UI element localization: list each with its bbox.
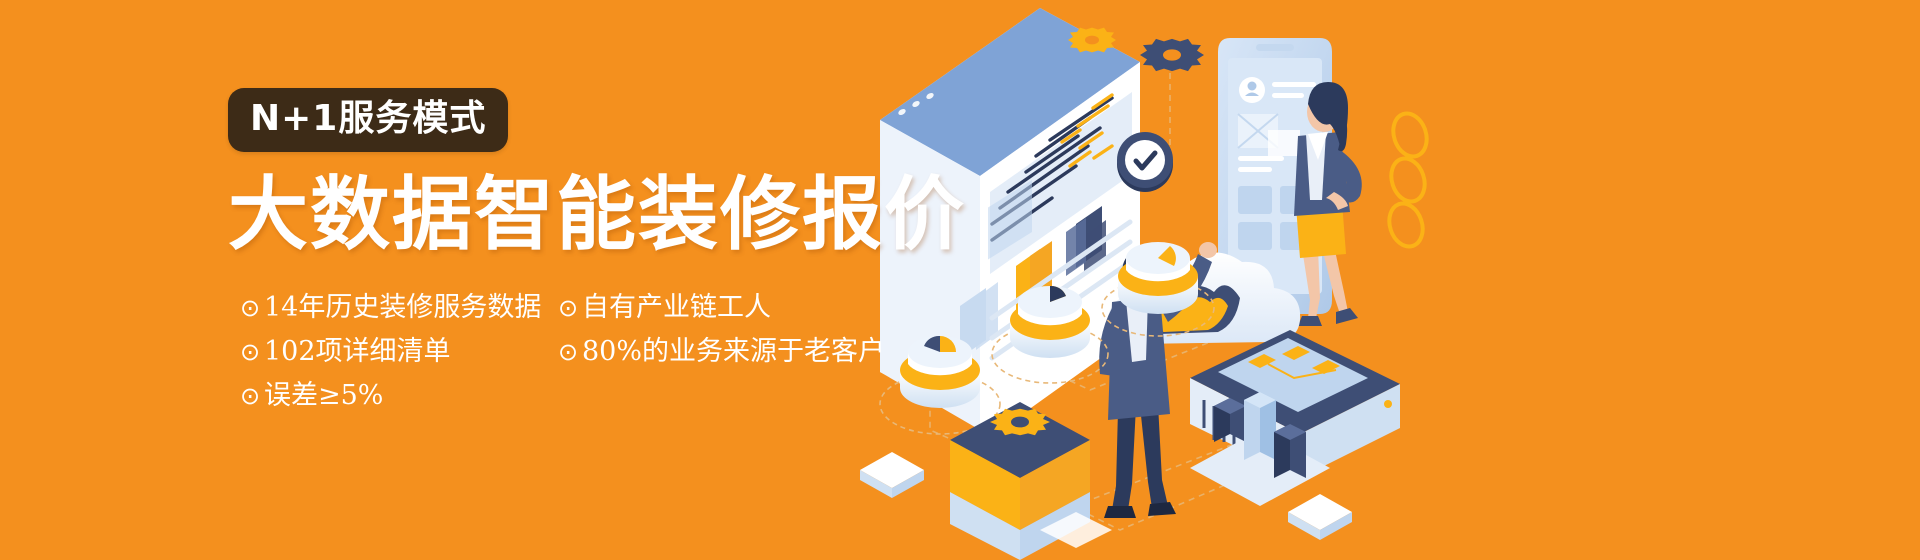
ring-links-icon [1384,109,1432,251]
list-item: ⊙ 102项详细清单 [240,337,558,367]
checkmark-badge-icon [1117,132,1173,192]
bullet-dot-icon: ⊙ [240,296,262,320]
list-item: ⊙ 自有产业链工人 [558,293,1048,323]
list-item-label: 自有产业链工人 [582,293,771,323]
page-title: 大数据智能装修报价 [228,174,1048,256]
service-mode-badge: N+1服务模式 [228,88,508,152]
bullet-dot-icon: ⊙ [240,340,262,364]
list-item-label: 102项详细清单 [264,337,451,367]
list-item: ⊙ 80%的业务来源于老客户 [558,337,1048,367]
list-item: ⊙ 误差≥5% [240,381,558,411]
promo-banner: N+1服务模式 大数据智能装修报价 ⊙ 14年历史装修服务数据 ⊙ 自有产业链工… [0,0,1920,560]
bullet-dot-icon: ⊙ [240,384,262,408]
banner-text-block: N+1服务模式 大数据智能装修报价 ⊙ 14年历史装修服务数据 ⊙ 自有产业链工… [228,88,1048,418]
bullet-dot-icon: ⊙ [558,340,580,364]
list-item-label: 14年历史装修服务数据 [264,293,541,323]
list-item-label: 误差≥5% [264,381,383,411]
bullet-dot-icon: ⊙ [558,296,580,320]
gear-navy-icon [1140,39,1204,71]
feature-bullet-list: ⊙ 14年历史装修服务数据 ⊙ 自有产业链工人 ⊙ 102项详细清单 ⊙ 80%… [240,286,1048,418]
list-item: ⊙ 14年历史装修服务数据 [240,293,558,323]
list-item-label: 80%的业务来源于老客户 [582,337,885,367]
